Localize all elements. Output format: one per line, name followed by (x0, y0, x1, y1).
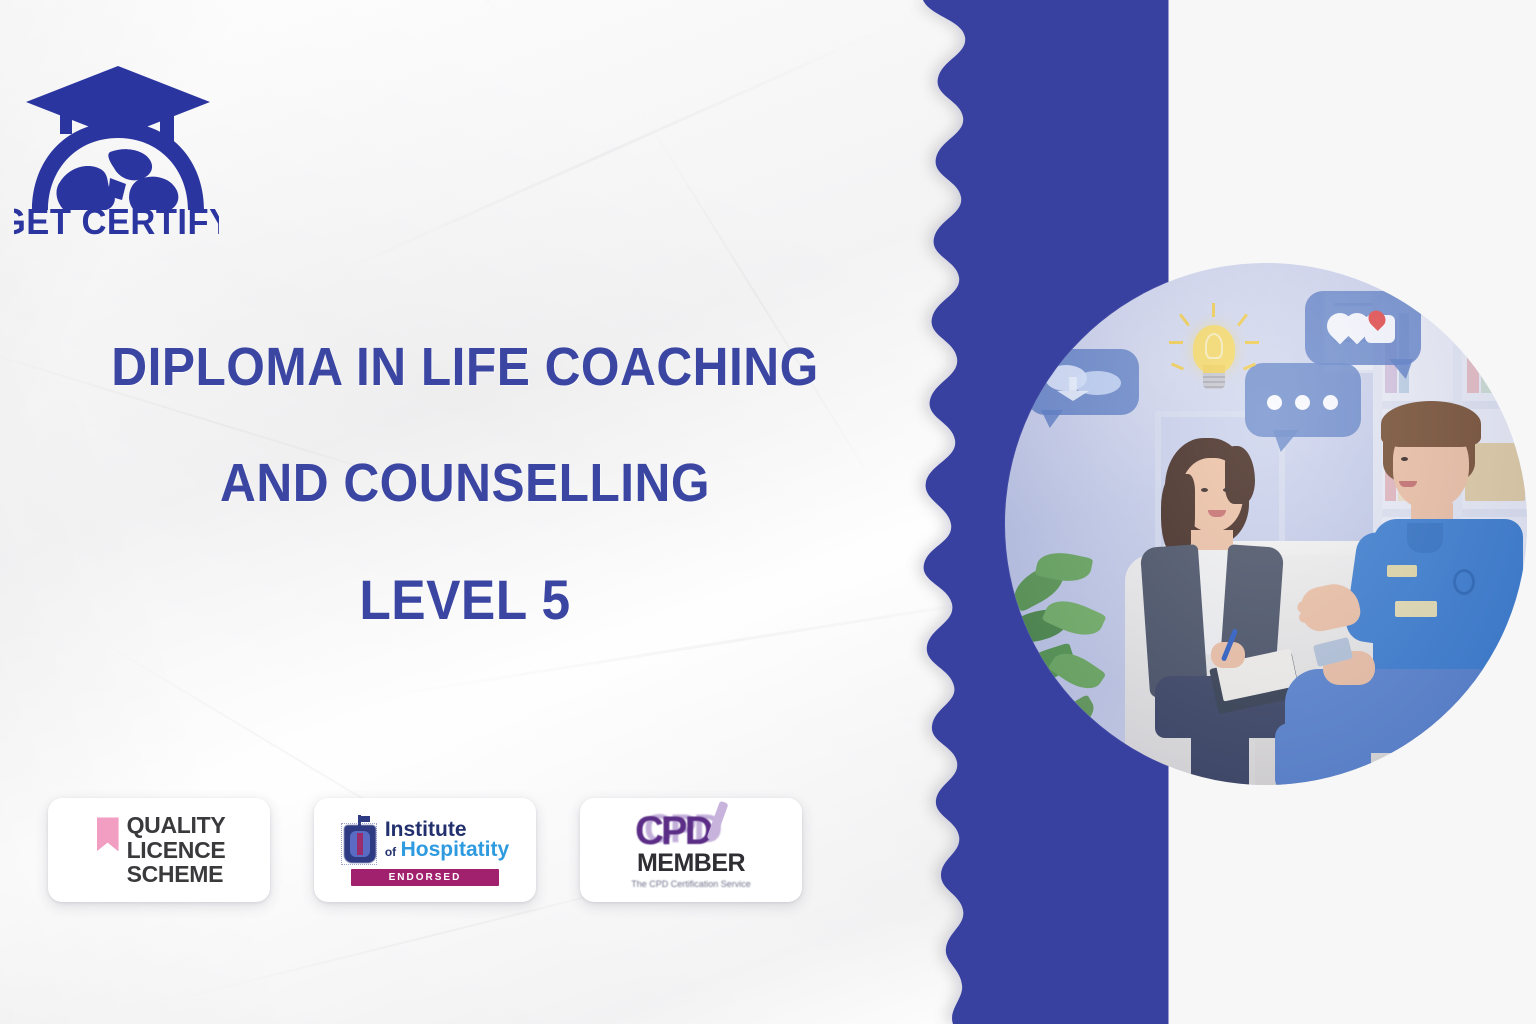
course-photo-circle (1005, 263, 1527, 785)
headline-line-2: AND COUNSELLING (37, 456, 893, 510)
qls-line-2: LICENCE (127, 838, 226, 862)
cpd-subtitle: The CPD Certification Service (631, 879, 751, 889)
badge-cpd-member[interactable]: CPD CPD MEMBER The CPD Certification Ser… (580, 798, 802, 902)
ioh-word-institute: Institute (385, 820, 509, 840)
ioh-word-of: of (385, 845, 396, 859)
accreditation-badges: QUALITY LICENCE SCHEME (48, 798, 802, 902)
graduation-cap-globe-icon: GET CERTIFY (14, 58, 219, 238)
page-title: DIPLOMA IN LIFE COACHING AND COUNSELLING… (0, 340, 930, 628)
qls-line-3: SCHEME (127, 862, 226, 886)
institute-crest-icon (341, 815, 379, 865)
headline-line-3: LEVEL 5 (37, 572, 893, 628)
badge-institute-of-hospitality[interactable]: Institute of Hospitatity ENDORSED (314, 798, 536, 902)
headline-line-1: DIPLOMA IN LIFE COACHING (37, 340, 893, 394)
cpd-acronym: CPD (635, 809, 710, 854)
cpd-logo-icon: CPD CPD (631, 811, 751, 853)
course-banner: GET CERTIFY DIPLOMA IN LIFE COACHING AND… (0, 0, 1536, 1024)
pink-ribbon-icon (97, 817, 119, 851)
cpd-member-label: MEMBER (637, 849, 745, 878)
ioh-word-hospitality: Hospitatity (401, 838, 510, 861)
brand-logo[interactable]: GET CERTIFY (14, 58, 219, 238)
badge-quality-licence-scheme[interactable]: QUALITY LICENCE SCHEME (48, 798, 270, 902)
logo-wordmark: GET CERTIFY (14, 202, 219, 238)
qls-line-1: QUALITY (127, 813, 226, 837)
ioh-endorsed-banner: ENDORSED (351, 869, 499, 886)
